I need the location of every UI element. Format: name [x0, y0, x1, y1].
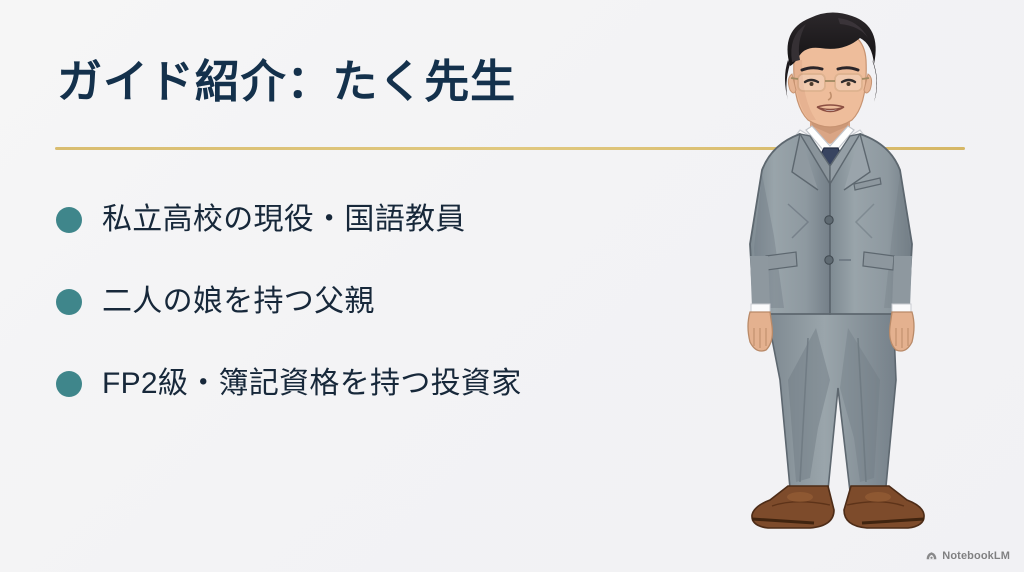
slide-canvas: ガイド紹介：たく先生 私立高校の現役・国語教員 二人の娘を持つ父親 FP2級・簿…: [0, 0, 1024, 572]
notebooklm-logo-icon: [925, 549, 938, 562]
list-item: 私立高校の現役・国語教員: [56, 192, 676, 248]
bullet-text: FP2級・簿記資格を持つ投資家: [102, 365, 522, 403]
bullet-dot-icon: [56, 371, 82, 397]
man-in-gray-suit-illustration: [688, 8, 978, 560]
page-title: ガイド紹介：たく先生: [57, 56, 516, 108]
bullet-dot-icon: [56, 289, 82, 315]
watermark-label: NotebookLM: [942, 550, 1010, 562]
notebooklm-watermark: NotebookLM: [925, 549, 1010, 562]
bullet-dot-icon: [56, 207, 82, 233]
bullet-text: 二人の娘を持つ父親: [102, 283, 375, 321]
list-item: 二人の娘を持つ父親: [56, 274, 676, 330]
bullet-text: 私立高校の現役・国語教員: [102, 201, 466, 239]
list-item: FP2級・簿記資格を持つ投資家: [56, 356, 676, 412]
bullet-list: 私立高校の現役・国語教員 二人の娘を持つ父親 FP2級・簿記資格を持つ投資家: [56, 192, 676, 438]
